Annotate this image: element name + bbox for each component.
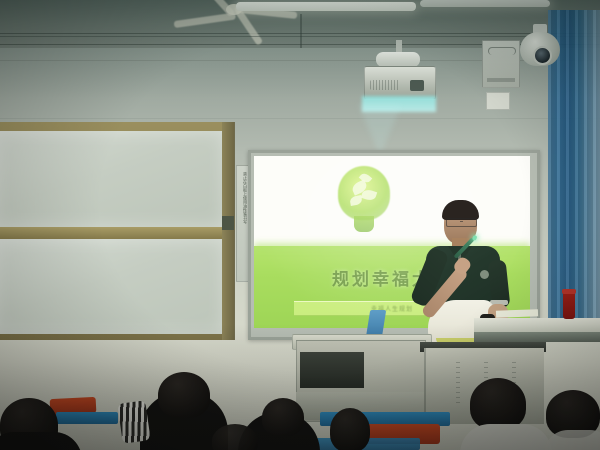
ptz-dome-security-camera (520, 24, 560, 76)
fluorescent-tube-light (236, 2, 416, 11)
thermos-cap (562, 289, 576, 294)
presenter-hair (442, 200, 479, 220)
classroom-desk (56, 412, 118, 424)
projector-mount-bracket (376, 52, 420, 67)
wall-plate (486, 92, 510, 110)
green-lightbulb-tree-logo (332, 166, 396, 236)
projector-beam (358, 104, 402, 156)
whiteboard-frame (0, 122, 235, 340)
pointer-tip-glow (472, 235, 478, 241)
paper-on-ledge (496, 309, 538, 317)
lower-whiteboard (0, 239, 224, 334)
wall-seam (0, 118, 600, 119)
fluorescent-tube-light (420, 0, 550, 7)
projector-vent (370, 80, 400, 90)
camera-lens-icon (533, 46, 552, 65)
student-white-shirt (460, 424, 552, 450)
upper-whiteboard (0, 131, 224, 227)
whiteboard-rail (0, 227, 226, 239)
wall-ledge (474, 318, 600, 332)
student-striped-sleeve (117, 400, 150, 444)
classroom-photo: 禁止在白板上使用油性笔书写 规划幸福大学 幸福人生规划 主讲 (0, 0, 600, 450)
ceiling-conduit (300, 14, 302, 48)
ceiling-conduit (0, 36, 600, 37)
projector-lens-icon (410, 80, 424, 91)
student-head (470, 378, 526, 430)
red-thermos-cup (563, 292, 575, 319)
whiteboard-notice-text: 禁止在白板上使用油性笔书写 (240, 172, 248, 272)
student-head (330, 408, 370, 450)
student-head (158, 372, 210, 418)
wall-ledge-shadow (474, 332, 600, 342)
eyeglasses-icon (446, 218, 477, 227)
student-head (262, 398, 304, 436)
whiteboard-post (222, 122, 234, 340)
student-head (212, 424, 258, 450)
podium-shelf-opening (300, 352, 364, 388)
wall-mounted-box (482, 40, 520, 88)
